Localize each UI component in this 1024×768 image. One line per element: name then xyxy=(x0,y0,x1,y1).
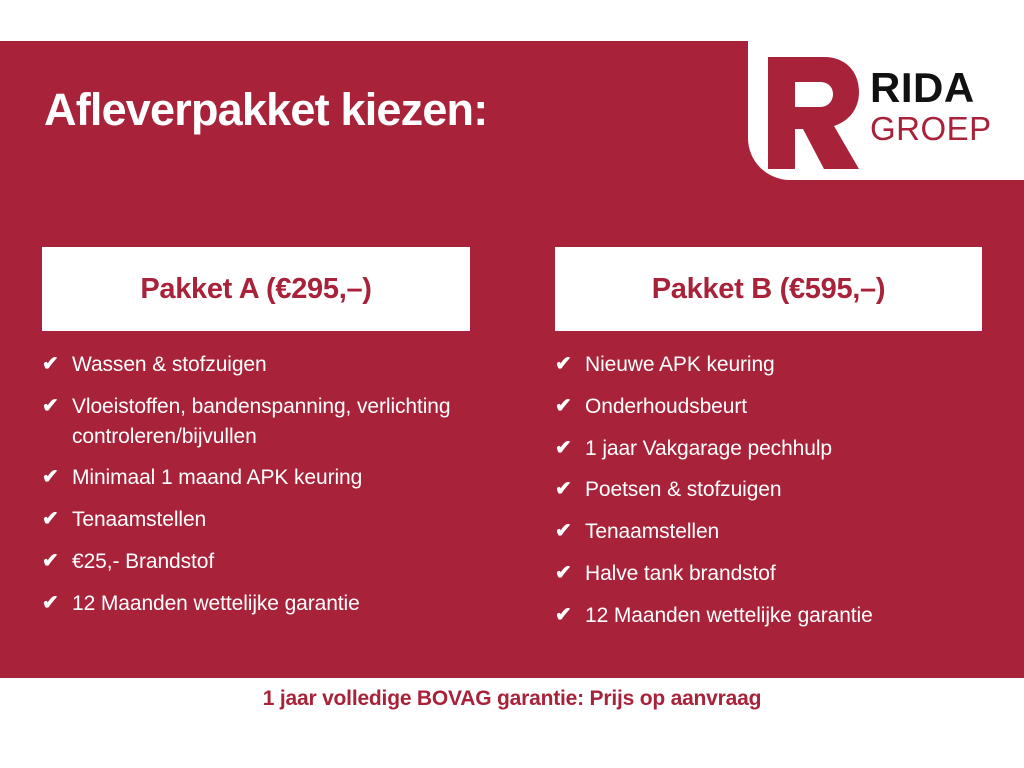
check-icon: ✔ xyxy=(555,392,585,420)
list-item: ✔ 12 Maanden wettelijke garantie xyxy=(42,589,470,619)
list-item: ✔ Nieuwe APK keuring xyxy=(555,350,982,380)
check-icon: ✔ xyxy=(555,601,585,629)
check-icon: ✔ xyxy=(555,517,585,545)
slide-canvas: Afleverpakket kiezen: RIDA GROEP Pakket … xyxy=(0,0,1024,768)
list-item: ✔ Poetsen & stofzuigen xyxy=(555,475,982,505)
list-item: ✔ Tenaamstellen xyxy=(555,517,982,547)
feature-label: 12 Maanden wettelijke garantie xyxy=(585,601,982,631)
list-item: ✔ Vloeistoffen, bandenspanning, verlicht… xyxy=(42,392,470,452)
list-item: ✔ Tenaamstellen xyxy=(42,505,470,535)
package-a-feature-list: ✔ Wassen & stofzuigen ✔ Vloeistoffen, ba… xyxy=(42,350,470,619)
package-a-title: Pakket A (€295,–) xyxy=(42,247,470,331)
list-item: ✔ Minimaal 1 maand APK keuring xyxy=(42,463,470,493)
check-icon: ✔ xyxy=(555,350,585,378)
package-card-a[interactable]: Pakket A (€295,–) ✔ Wassen & stofzuigen … xyxy=(42,247,470,631)
package-b-feature-list: ✔ Nieuwe APK keuring ✔ Onderhoudsbeurt ✔… xyxy=(555,350,982,631)
list-item: ✔ Wassen & stofzuigen xyxy=(42,350,470,380)
feature-label: Tenaamstellen xyxy=(585,517,982,547)
package-card-b[interactable]: Pakket B (€595,–) ✔ Nieuwe APK keuring ✔… xyxy=(555,247,982,643)
check-icon: ✔ xyxy=(42,505,72,533)
check-icon: ✔ xyxy=(42,547,72,575)
check-icon: ✔ xyxy=(555,475,585,503)
feature-label: Wassen & stofzuigen xyxy=(72,350,470,380)
feature-label: Minimaal 1 maand APK keuring xyxy=(72,463,470,493)
feature-label: Halve tank brandstof xyxy=(585,559,982,589)
list-item: ✔ 12 Maanden wettelijke garantie xyxy=(555,601,982,631)
feature-label: Poetsen & stofzuigen xyxy=(585,475,982,505)
list-item: ✔ Halve tank brandstof xyxy=(555,559,982,589)
package-b-title: Pakket B (€595,–) xyxy=(555,247,982,331)
feature-label: Nieuwe APK keuring xyxy=(585,350,982,380)
check-icon: ✔ xyxy=(42,589,72,617)
feature-label: Tenaamstellen xyxy=(72,505,470,535)
feature-label: 12 Maanden wettelijke garantie xyxy=(72,589,470,619)
packages-container: Pakket A (€295,–) ✔ Wassen & stofzuigen … xyxy=(0,41,1024,678)
list-item: ✔ €25,- Brandstof xyxy=(42,547,470,577)
list-item: ✔ Onderhoudsbeurt xyxy=(555,392,982,422)
feature-label: Vloeistoffen, bandenspanning, verlichtin… xyxy=(72,392,470,452)
check-icon: ✔ xyxy=(42,350,72,378)
feature-label: Onderhoudsbeurt xyxy=(585,392,982,422)
check-icon: ✔ xyxy=(42,463,72,491)
check-icon: ✔ xyxy=(42,392,72,420)
footer-banner: 1 jaar volledige BOVAG garantie: Prijs o… xyxy=(0,678,1024,768)
main-red-panel: Afleverpakket kiezen: RIDA GROEP Pakket … xyxy=(0,41,1024,678)
feature-label: €25,- Brandstof xyxy=(72,547,470,577)
feature-label: 1 jaar Vakgarage pechhulp xyxy=(585,434,982,464)
list-item: ✔ 1 jaar Vakgarage pechhulp xyxy=(555,434,982,464)
check-icon: ✔ xyxy=(555,559,585,587)
footer-guarantee-text: 1 jaar volledige BOVAG garantie: Prijs o… xyxy=(0,687,1024,711)
check-icon: ✔ xyxy=(555,434,585,462)
